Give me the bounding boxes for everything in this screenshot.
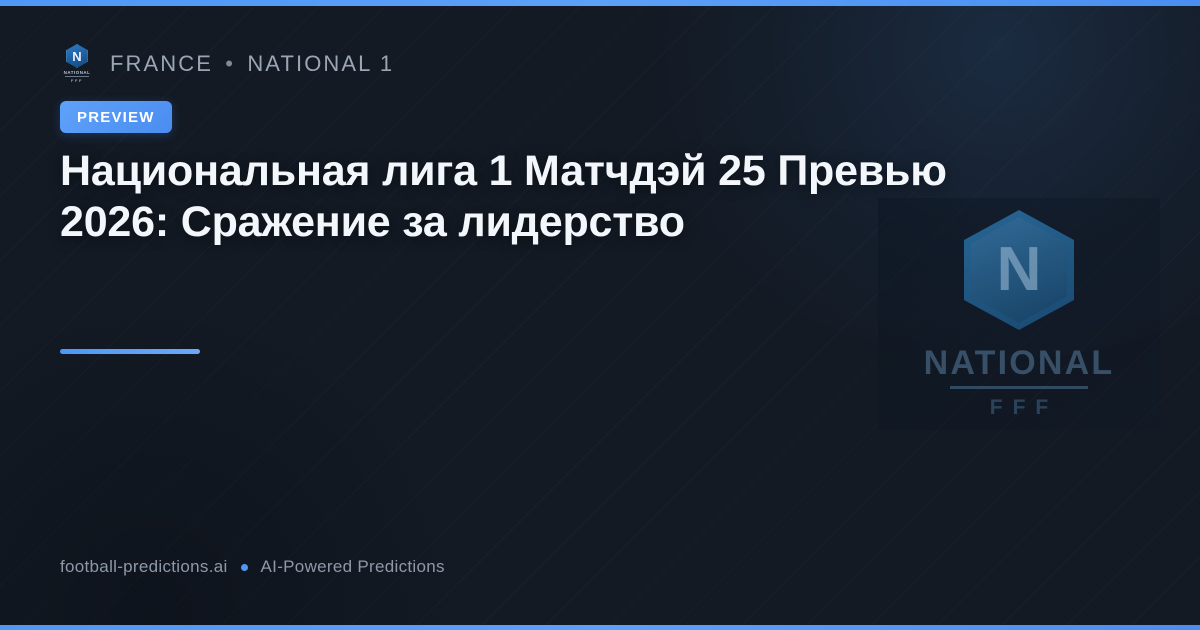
breadcrumb-separator: • — [221, 51, 239, 76]
league-logo-federation: FFF — [980, 397, 1058, 418]
footer-site: football-predictions.ai — [60, 557, 228, 577]
breadcrumb-country: FRANCE — [110, 51, 213, 76]
preview-badge-label: PREVIEW — [77, 109, 155, 126]
breadcrumb-text: FRANCE • NATIONAL 1 — [110, 51, 394, 77]
bottom-left-shadow — [0, 310, 500, 630]
accent-underline — [60, 349, 200, 354]
footer: football-predictions.ai AI-Powered Predi… — [60, 557, 445, 577]
footer-dot-separator — [241, 564, 248, 571]
league-logo-wordmark: NATIONAL — [924, 346, 1115, 380]
hexagon-shield-icon: N — [66, 44, 88, 68]
bottom-accent-bar — [0, 625, 1200, 630]
share-card-canvas: N NATIONAL FFF FRANCE • NATIONAL 1 PREVI… — [0, 0, 1200, 630]
preview-badge: PREVIEW — [60, 101, 172, 133]
badge-federation: FFF — [71, 78, 83, 83]
breadcrumb-competition: NATIONAL 1 — [247, 51, 394, 76]
league-logo-rule — [950, 386, 1088, 389]
badge-rule — [65, 76, 89, 77]
league-logo-monogram: N — [997, 239, 1042, 301]
hexagon-shield-icon-large: N — [964, 210, 1074, 330]
footer-tagline: AI-Powered Predictions — [261, 557, 445, 577]
league-badge-icon: N NATIONAL FFF — [60, 44, 94, 84]
badge-wordmark: NATIONAL — [64, 70, 91, 75]
breadcrumb: N NATIONAL FFF FRANCE • NATIONAL 1 — [60, 44, 394, 84]
top-accent-bar — [0, 0, 1200, 6]
badge-monogram: N — [72, 50, 81, 63]
league-logo: N NATIONAL FFF — [878, 198, 1160, 430]
page-title: Национальная лига 1 Матчдэй 25 Превью 20… — [60, 146, 950, 248]
